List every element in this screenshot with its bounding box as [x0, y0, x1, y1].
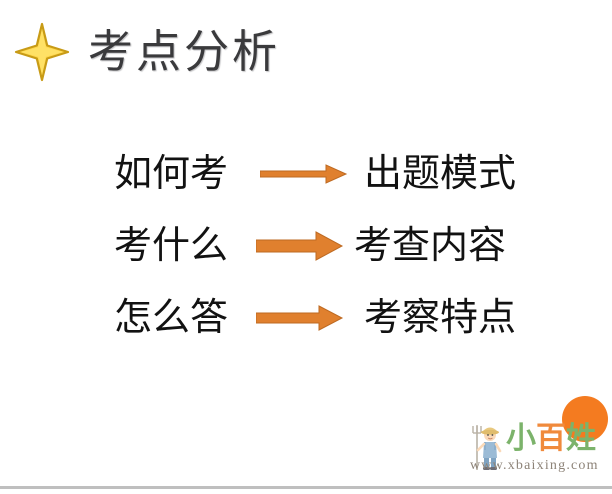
- row-answer-label: 考察特点: [364, 299, 516, 337]
- row-question-label: 考什么: [114, 227, 246, 265]
- content-row: 怎么答 考察特点: [114, 282, 544, 354]
- watermark-brand-name: 小百姓: [506, 424, 596, 454]
- sparkle-star-icon: [14, 22, 70, 82]
- row-answer-label: 出题模式: [364, 155, 516, 193]
- slide-canvas: 考点分析 如何考 出题模式 考什么 考查内容 怎么答: [0, 0, 612, 494]
- brand-char-2: 百: [536, 422, 566, 455]
- slide-title-row: 考点分析: [14, 22, 280, 82]
- watermark-url: www.xbaixing.com: [470, 458, 599, 474]
- watermark-logo: 小百姓 www.xbaixing.com: [464, 396, 612, 488]
- bottom-divider: [0, 486, 612, 489]
- content-rows: 如何考 出题模式 考什么 考查内容 怎么答: [114, 138, 544, 354]
- row-question-label: 如何考: [114, 155, 246, 193]
- arrow-right-icon: [258, 161, 350, 187]
- content-row: 考什么 考查内容: [114, 210, 544, 282]
- brand-char-3: 姓: [566, 422, 596, 455]
- row-question-label: 怎么答: [114, 299, 246, 337]
- page-title: 考点分析: [88, 30, 280, 75]
- brand-char-1: 小: [506, 422, 536, 455]
- content-row: 如何考 出题模式: [114, 138, 544, 210]
- arrow-right-icon: [254, 304, 346, 332]
- arrow-right-icon: [254, 231, 346, 261]
- row-answer-label: 考查内容: [354, 227, 506, 265]
